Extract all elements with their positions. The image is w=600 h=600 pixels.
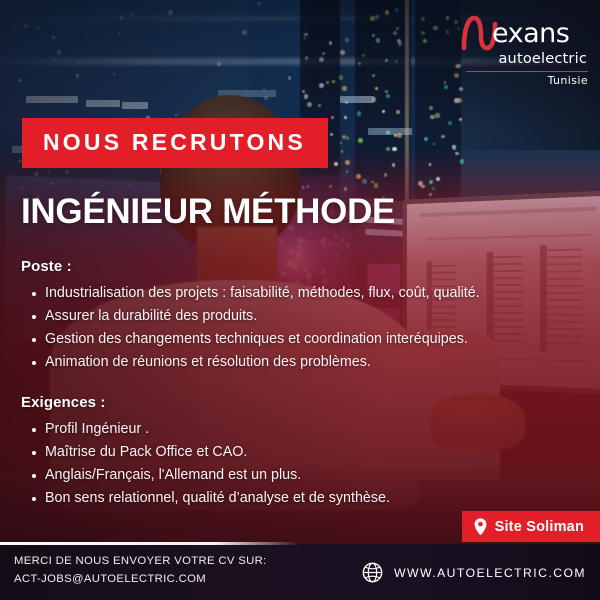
section-exigences-heading: Exigences : bbox=[21, 394, 390, 411]
list-item: Maîtrise du Pack Office et CAO. bbox=[21, 441, 390, 464]
list-item: Assurer la durabilité des produits. bbox=[21, 305, 480, 328]
job-title: INGÉNIEUR MÉTHODE bbox=[21, 192, 395, 232]
nexans-autoelectric-logo: exans autoelectric Tunisie bbox=[458, 18, 588, 86]
section-exigences: Exigences : Profil Ingénieur . Maîtrise … bbox=[21, 394, 390, 511]
section-poste: Poste : Industrialisation des projets : … bbox=[21, 258, 480, 375]
recruiting-banner: NOUS RECRUTONS bbox=[22, 118, 328, 168]
section-exigences-list: Profil Ingénieur . Maîtrise du Pack Offi… bbox=[21, 418, 390, 511]
footer-cv-line-1: MERCI DE NOUS ENVOYER VOTRE CV SUR: bbox=[14, 552, 267, 570]
footer-bar: MERCI DE NOUS ENVOYER VOTRE CV SUR: ACT-… bbox=[0, 544, 600, 600]
section-poste-list: Industrialisation des projets : faisabil… bbox=[21, 282, 480, 375]
globe-icon bbox=[362, 562, 383, 583]
site-location-badge: Site Soliman bbox=[462, 511, 600, 542]
logo-divider bbox=[466, 71, 588, 73]
section-poste-heading: Poste : bbox=[21, 258, 480, 275]
recruiting-banner-label: NOUS RECRUTONS bbox=[43, 129, 306, 155]
list-item: Animation de réunions et résolution des … bbox=[21, 351, 480, 374]
footer-contact: MERCI DE NOUS ENVOYER VOTRE CV SUR: ACT-… bbox=[14, 552, 267, 589]
list-item: Profil Ingénieur . bbox=[21, 418, 390, 441]
logo-wordmark: exans bbox=[492, 20, 569, 47]
footer-divider bbox=[0, 542, 300, 545]
logo-subtitle: autoelectric bbox=[458, 52, 588, 67]
list-item: Bon sens relationnel, qualité d’analyse … bbox=[21, 487, 390, 510]
footer-url-text: WWW.AUTOELECTRIC.COM bbox=[394, 566, 586, 580]
list-item: Gestion des changements techniques et co… bbox=[21, 328, 480, 351]
list-item: Anglais/Français, l'Allemand est un plus… bbox=[21, 464, 390, 487]
list-item: Industrialisation des projets : faisabil… bbox=[21, 282, 480, 305]
location-pin-icon bbox=[474, 518, 487, 535]
site-location-label: Site Soliman bbox=[495, 519, 584, 535]
footer-website: WWW.AUTOELECTRIC.COM bbox=[362, 562, 586, 583]
recruitment-poster: exans autoelectric Tunisie NOUS RECRUTON… bbox=[0, 0, 600, 600]
footer-email: ACT-JOBS@AUTOELECTRIC.COM bbox=[14, 570, 267, 588]
logo-region: Tunisie bbox=[458, 75, 588, 86]
